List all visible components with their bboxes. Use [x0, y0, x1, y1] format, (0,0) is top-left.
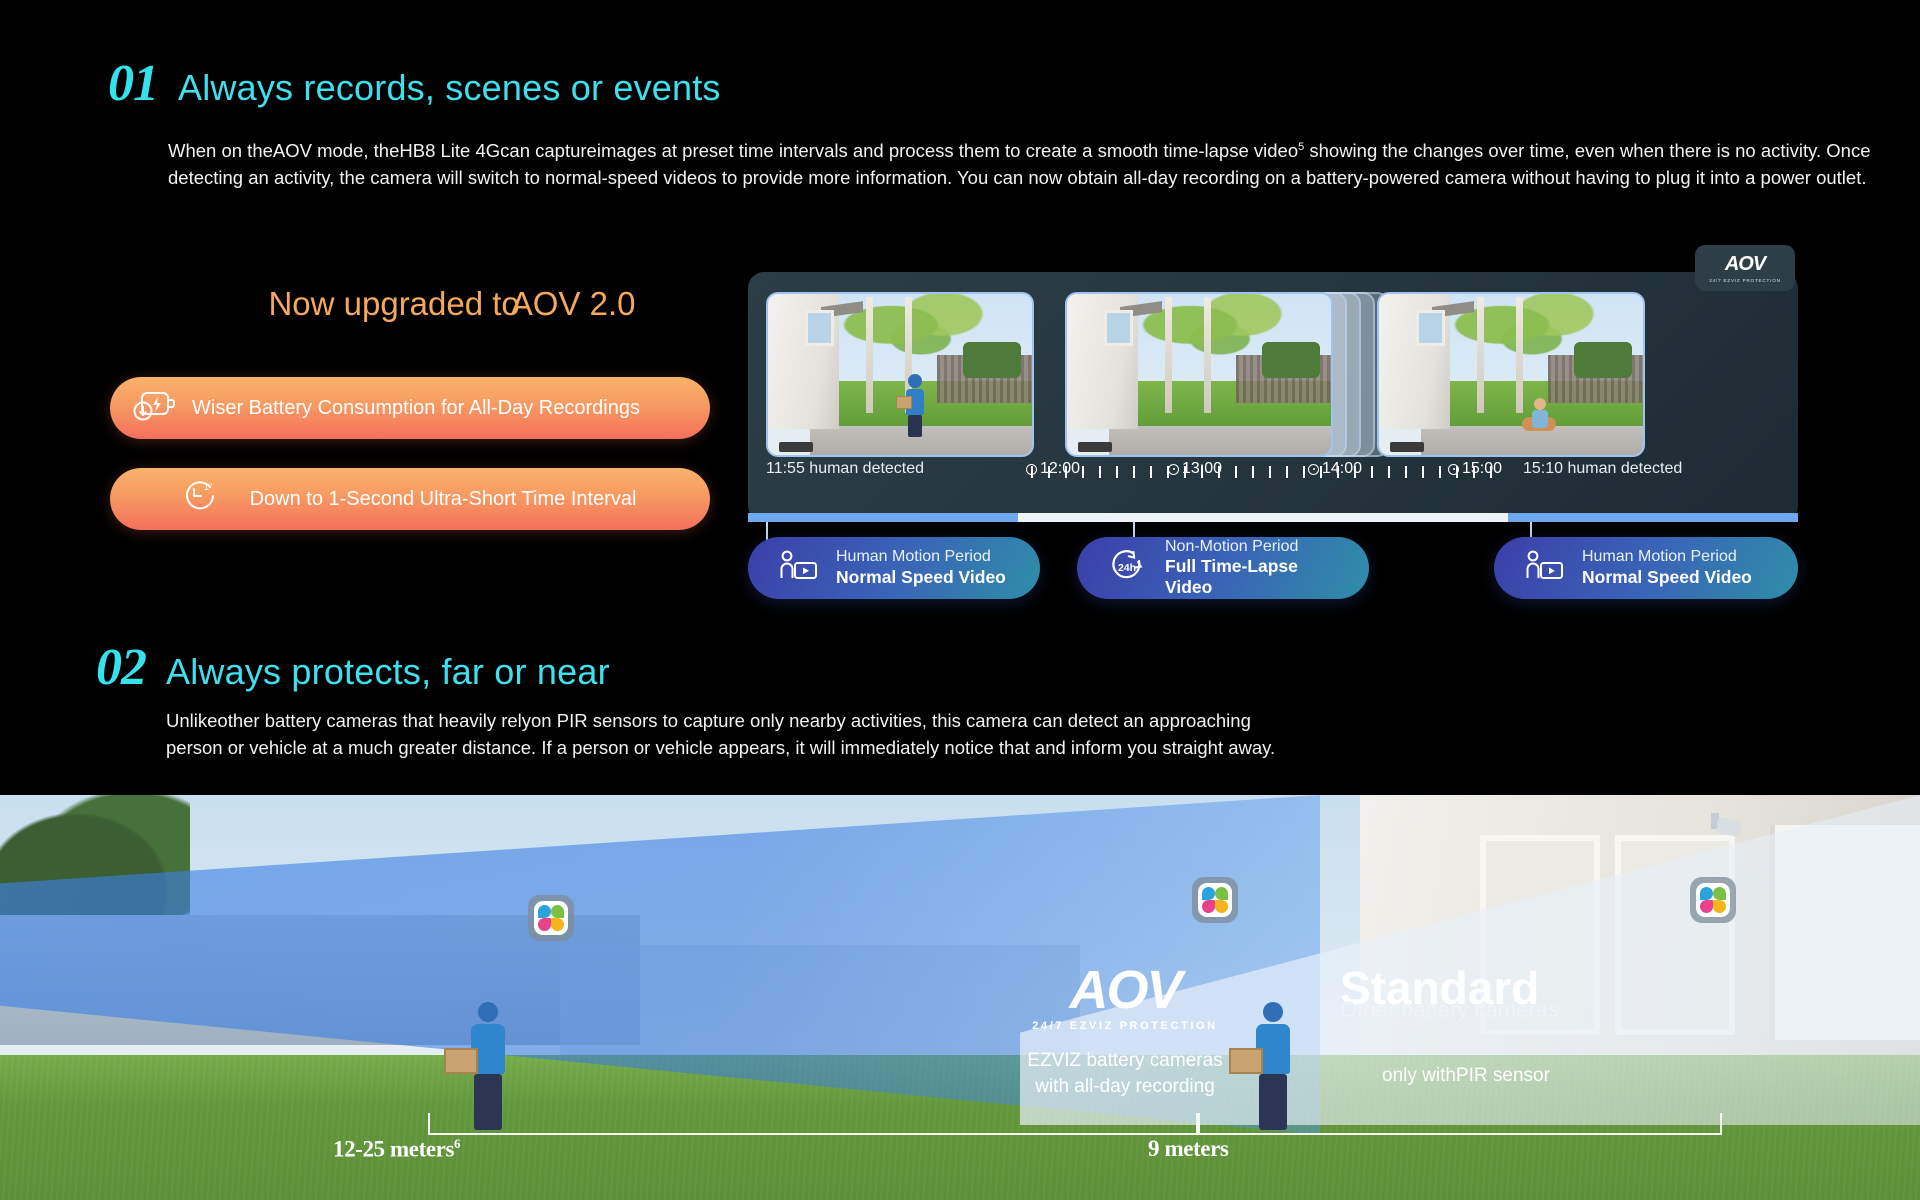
- section-02-heading: 02 Always protects, far or near: [96, 642, 610, 694]
- 24h-cycle-icon: 24h: [1107, 548, 1147, 589]
- feature-pill-battery-label: Wiser Battery Consumption for All-Day Re…: [192, 397, 640, 420]
- svg-text:24h: 24h: [1118, 562, 1136, 574]
- section-number: 01: [108, 58, 158, 110]
- upgrade-brand: AOV 2.0: [511, 285, 636, 322]
- aov-caption-line2: with all-day recording: [955, 1074, 1295, 1100]
- video-thumbnail[interactable]: [1065, 292, 1333, 457]
- section-01-paragraph: When on theAOV mode, theHB8 Lite 4Gcan c…: [168, 138, 1890, 192]
- aov-tagline-large: 24/7 EZVIZ PROTECTION: [955, 1020, 1295, 1032]
- aov-caption-line1: EZVIZ battery cameras: [955, 1048, 1295, 1074]
- timeline-card-text: Human Motion Period Normal Speed Video: [1582, 548, 1752, 587]
- ezviz-app-icon[interactable]: [1690, 877, 1736, 923]
- feature-pill-interval-label: Down to 1-Second Ultra-Short Time Interv…: [250, 488, 637, 511]
- person-video-icon: [778, 549, 818, 588]
- timeline-card-human-motion-left[interactable]: Human Motion Period Normal Speed Video: [748, 537, 1040, 599]
- card-title: Human Motion Period: [836, 548, 1006, 566]
- aov-caption: EZVIZ battery cameras with all-day recor…: [955, 1048, 1295, 1099]
- timeline-right-label: 15:10 human detected: [1523, 460, 1682, 478]
- section-02-paragraph: Unlikeother battery cameras that heavily…: [166, 708, 1294, 762]
- security-camera-icon: [1711, 813, 1745, 839]
- upgrade-headline: Now upgraded toAOV 2.0: [222, 285, 682, 323]
- timeline-left-label: 11:55 human detected: [766, 460, 924, 478]
- section-01-heading: 01 Always records, scenes or events: [108, 58, 721, 110]
- feature-pill-interval[interactable]: 1" Down to 1-Second Ultra-Short Time Int…: [110, 468, 710, 530]
- measure-label-aov: 12-25 meters6: [333, 1136, 460, 1163]
- card-title: Human Motion Period: [1582, 548, 1752, 566]
- aov-wordmark: AOV: [1725, 253, 1765, 276]
- card-title: Non-Motion Period: [1165, 538, 1343, 556]
- card-subtitle: Full Time-Lapse Video: [1165, 556, 1343, 598]
- timeline-ruler-row: 11:55 human detected 12:00 13:00 14:00 1…: [748, 454, 1798, 494]
- measure-label-text: 9 meters: [1148, 1136, 1228, 1161]
- person-video-icon: [1524, 549, 1564, 588]
- page-title: Always protects, far or near: [166, 651, 610, 693]
- section-number: 02: [96, 642, 146, 694]
- battery-charge-down-icon: [132, 388, 178, 428]
- timeline-ticks: [1031, 466, 1501, 478]
- video-thumbnail[interactable]: [766, 292, 1034, 457]
- ezviz-app-icon[interactable]: [528, 895, 574, 941]
- feature-pill-battery[interactable]: Wiser Battery Consumption for All-Day Re…: [110, 377, 710, 439]
- aov-wordmark-large: AOV: [955, 965, 1295, 1016]
- aov-comparison-block: AOV 24/7 EZVIZ PROTECTION EZVIZ battery …: [955, 965, 1295, 1100]
- aov-logo-badge: AOV 24/7 EZVIZ PROTECTION: [1695, 245, 1795, 291]
- video-thumbnail-row: [766, 292, 1780, 457]
- card-subtitle: Normal Speed Video: [836, 567, 1006, 588]
- timeline-card-non-motion[interactable]: 24h Non-Motion Period Full Time-Lapse Vi…: [1077, 537, 1369, 599]
- timeline-progress-bar[interactable]: [748, 513, 1798, 522]
- paragraph-text-a: When on theAOV mode, theHB8 Lite 4Gcan c…: [168, 140, 1298, 161]
- timeline-card-text: Human Motion Period Normal Speed Video: [836, 548, 1006, 587]
- card-subtitle: Normal Speed Video: [1582, 567, 1752, 588]
- scene-person-far: [460, 1002, 516, 1130]
- svg-text:1": 1": [204, 482, 212, 492]
- measure-label-standard: 9 meters: [1148, 1136, 1228, 1162]
- timeline-card-text: Non-Motion Period Full Time-Lapse Video: [1165, 538, 1343, 598]
- ezviz-app-icon[interactable]: [1192, 877, 1238, 923]
- standard-subtitle: Other battery cameras: [1340, 997, 1770, 1023]
- page-root: 01 Always records, scenes or events When…: [0, 0, 1920, 1200]
- footnote-marker-6: 6: [454, 1136, 460, 1151]
- standard-comparison-block: Standard Other battery cameras only with…: [1340, 965, 1770, 1087]
- upgrade-prefix: Now upgraded to: [268, 285, 519, 322]
- measure-bracket-standard: [1198, 1113, 1722, 1135]
- clock-one-second-icon: 1": [180, 478, 220, 520]
- timeline-panel: 11:55 human detected 12:00 13:00 14:00 1…: [748, 272, 1798, 522]
- standard-caption: only withPIR sensor: [1382, 1065, 1770, 1087]
- measure-label-text: 12-25 meters: [333, 1137, 454, 1162]
- timeline-card-human-motion-right[interactable]: Human Motion Period Normal Speed Video: [1494, 537, 1798, 599]
- measure-bracket-aov: [428, 1113, 1198, 1135]
- aov-tagline: 24/7 EZVIZ PROTECTION: [1709, 278, 1780, 283]
- page-title: Always records, scenes or events: [178, 67, 721, 109]
- video-thumbnail[interactable]: [1377, 292, 1645, 457]
